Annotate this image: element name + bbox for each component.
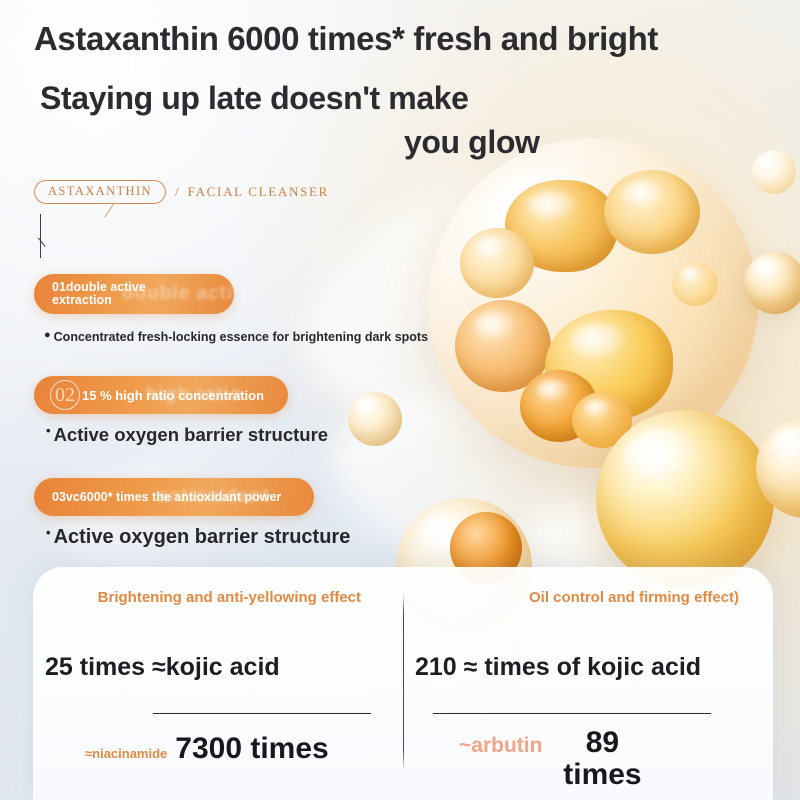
left-compare-label: ≈niacinamide [85, 746, 167, 761]
badge-label: 01double active extraction [52, 281, 192, 308]
right-compare-label: ~arbutin [459, 734, 542, 758]
golden-sphere [596, 410, 774, 588]
product-poster: Astaxanthin 6000 times* fresh and bright… [0, 0, 800, 800]
brand-separator: / [175, 184, 179, 200]
feature-bullet-02: • Active oxygen barrier structure [46, 424, 328, 446]
arrow-barb [38, 238, 46, 248]
right-comparison-row: ~arbutin 89 times [459, 727, 654, 790]
headline-line-2: Staying up late doesn't make [40, 80, 469, 117]
amber-droplet [545, 310, 673, 420]
amber-droplet [604, 170, 700, 254]
right-compare-value: 89 times [550, 727, 654, 790]
golden-sphere [348, 392, 402, 446]
comparison-panel-right: Oil control and firming effect) 210 ≈ ti… [403, 567, 773, 800]
large-translucent-sphere [428, 138, 758, 468]
bullet-marker: • [46, 424, 51, 437]
headline-line-3: you glow [404, 124, 539, 161]
feature-bullet-01: ● Concentrated fresh-locking essence for… [44, 330, 428, 344]
brand-label: ASTAXANTHIN / FACIAL CLEANSER [34, 180, 329, 204]
bullet-marker: • [46, 526, 51, 539]
comparison-panel-left: Brightening and anti-yellowing effect 25… [33, 567, 403, 800]
right-caption: Oil control and firming effect) [439, 587, 739, 608]
left-compare-value: 7300 times [175, 733, 328, 765]
golden-sphere [752, 150, 796, 194]
brand-name-text: ASTAXANTHIN [48, 184, 152, 198]
right-divider-rule [433, 713, 711, 714]
feature-badge-02: high ratio 02 15 % high ratio concentrat… [34, 376, 288, 414]
feature-bullet-03: • Active oxygen barrier structure [46, 526, 350, 549]
down-arrow-icon [38, 214, 52, 262]
bullet-text: Active oxygen barrier structure [54, 526, 351, 549]
arrow-stem [40, 214, 41, 258]
feature-badge-01: double active 01double active extraction [34, 274, 234, 314]
brand-name-pill: ASTAXANTHIN [34, 180, 166, 204]
brand-category: FACIAL CLEANSER [188, 184, 329, 200]
comparison-card: Brightening and anti-yellowing effect 25… [33, 567, 773, 800]
speech-bubble-tail [104, 203, 133, 217]
badge-number: 02 [50, 380, 80, 410]
amber-droplet [455, 300, 551, 392]
left-caption: Brightening and anti-yellowing effect [61, 587, 361, 608]
amber-droplet [520, 370, 598, 442]
badge-label: 03vc6000* times the antioxidant power [52, 490, 281, 504]
bullet-text: Concentrated fresh-locking essence for b… [54, 330, 428, 344]
headline-line-1: Astaxanthin 6000 times* fresh and bright [34, 20, 658, 58]
left-comparison-row: ≈niacinamide 7300 times [85, 733, 329, 765]
badge-label: 15 % high ratio concentration [82, 388, 264, 403]
amber-droplet [572, 392, 632, 448]
golden-sphere [756, 418, 800, 518]
amber-droplet [460, 228, 534, 298]
left-headline: 25 times ≈kojic acid [45, 653, 280, 682]
amber-droplet [672, 262, 718, 306]
amber-droplet [505, 180, 617, 272]
left-divider-rule [153, 713, 371, 714]
feature-badge-03: antioxidant 03vc6000* times the antioxid… [34, 478, 314, 516]
bullet-marker: ● [44, 330, 51, 341]
bullet-text: Active oxygen barrier structure [54, 424, 329, 446]
golden-sphere [744, 252, 800, 314]
right-headline: 210 ≈ times of kojic acid [415, 653, 701, 682]
